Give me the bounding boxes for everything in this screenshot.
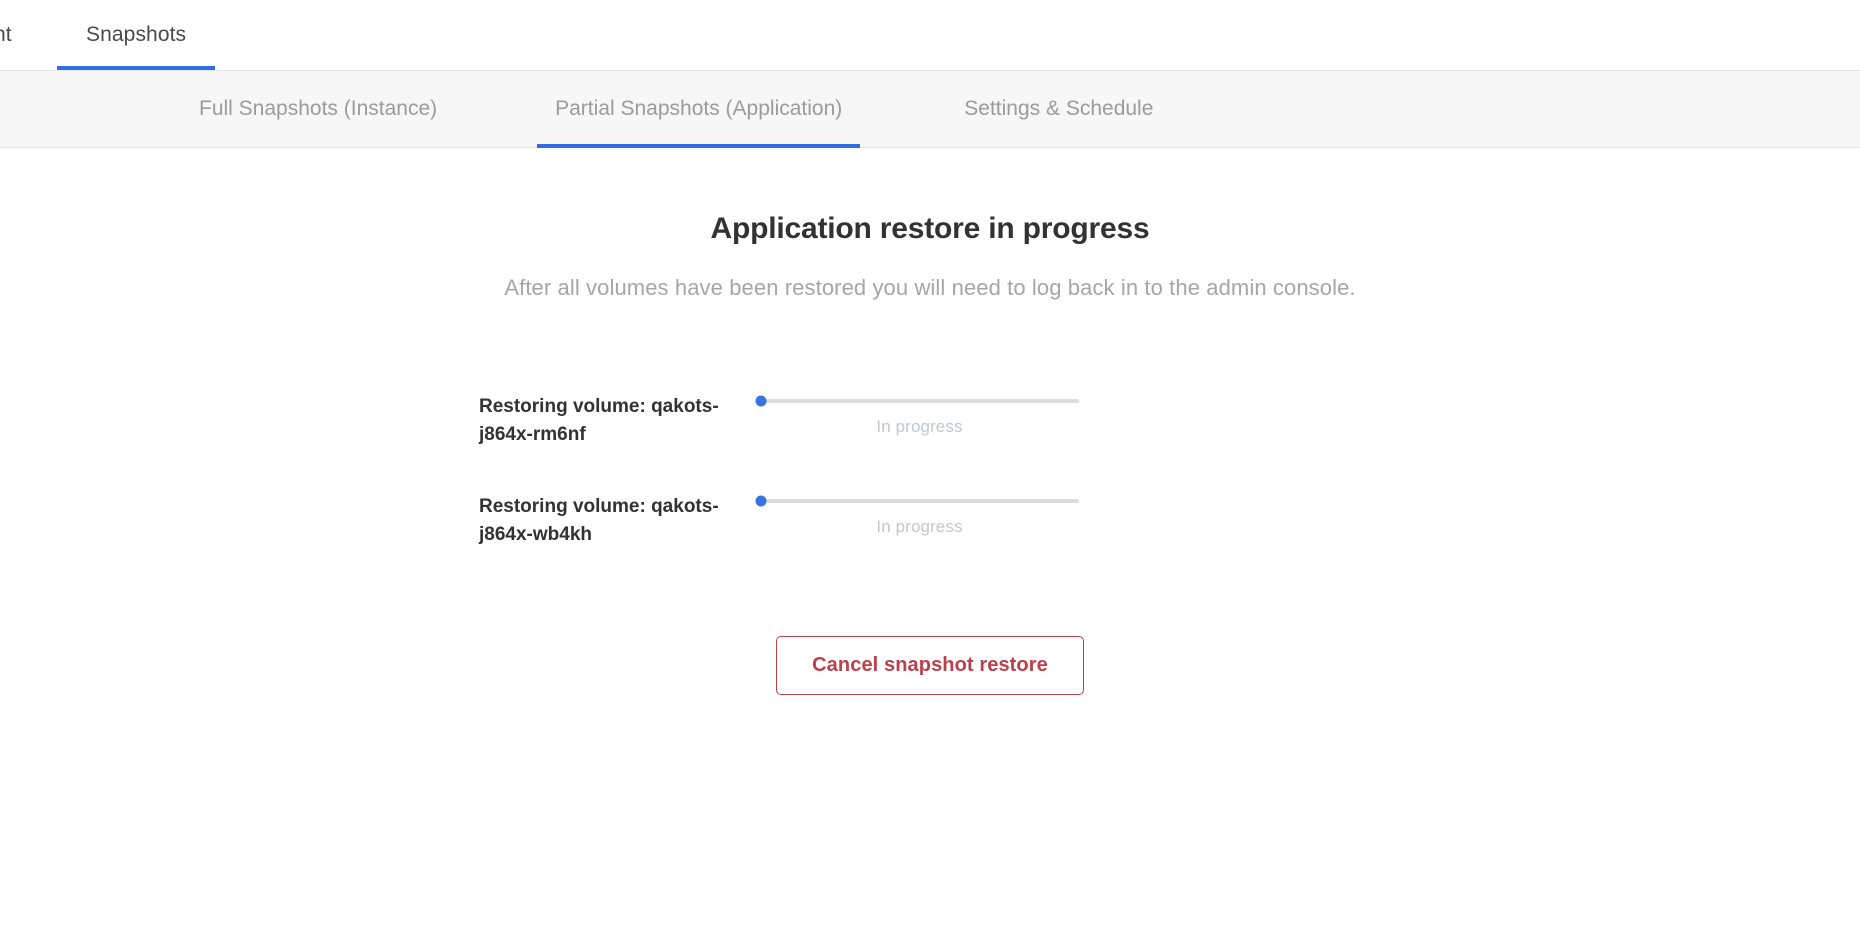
tab-settings-and-schedule[interactable]: Settings & Schedule bbox=[964, 70, 1153, 148]
progress-bar-track bbox=[761, 499, 1079, 503]
primary-nav-item-label: nt bbox=[0, 23, 12, 47]
tab-partial-snapshots-application[interactable]: Partial Snapshots (Application) bbox=[555, 70, 842, 148]
page-title: Application restore in progress bbox=[0, 212, 1860, 246]
primary-nav: nt Snapshots bbox=[0, 0, 1860, 70]
tab-label: Partial Snapshots (Application) bbox=[555, 97, 842, 121]
tab-full-snapshots-instance[interactable]: Full Snapshots (Instance) bbox=[199, 70, 437, 148]
progress-status-text: In progress bbox=[876, 517, 962, 537]
tab-underline bbox=[537, 144, 860, 148]
volume-label: Restoring volume: qakots-j864x-wb4kh bbox=[479, 485, 757, 549]
progress-indicator-dot bbox=[755, 496, 766, 507]
volume-label: Restoring volume: qakots-j864x-rm6nf bbox=[479, 385, 757, 449]
tab-label: Full Snapshots (Instance) bbox=[199, 97, 437, 121]
volume-progress-group: In progress bbox=[757, 385, 1082, 437]
volume-progress-group: In progress bbox=[757, 485, 1082, 537]
progress-status-text: In progress bbox=[876, 417, 962, 437]
volume-restore-list: Restoring volume: qakots-j864x-rm6nf In … bbox=[0, 385, 1860, 585]
primary-nav-item-truncated[interactable]: nt bbox=[0, 0, 28, 70]
volume-restore-row: Restoring volume: qakots-j864x-rm6nf In … bbox=[479, 385, 1082, 449]
subtab-bar: Full Snapshots (Instance) Partial Snapsh… bbox=[0, 70, 1860, 148]
cancel-snapshot-restore-button[interactable]: Cancel snapshot restore bbox=[776, 636, 1084, 695]
primary-nav-item-label: Snapshots bbox=[86, 23, 186, 47]
primary-nav-item-snapshots[interactable]: Snapshots bbox=[57, 0, 215, 70]
progress-indicator-dot bbox=[755, 396, 766, 407]
volume-restore-row: Restoring volume: qakots-j864x-wb4kh In … bbox=[479, 485, 1082, 549]
tab-label: Settings & Schedule bbox=[964, 97, 1153, 121]
page-subtitle: After all volumes have been restored you… bbox=[0, 275, 1860, 301]
action-button-row: Cancel snapshot restore bbox=[0, 636, 1860, 695]
restore-progress-panel: Application restore in progress After al… bbox=[0, 212, 1860, 695]
progress-bar-track bbox=[761, 399, 1079, 403]
